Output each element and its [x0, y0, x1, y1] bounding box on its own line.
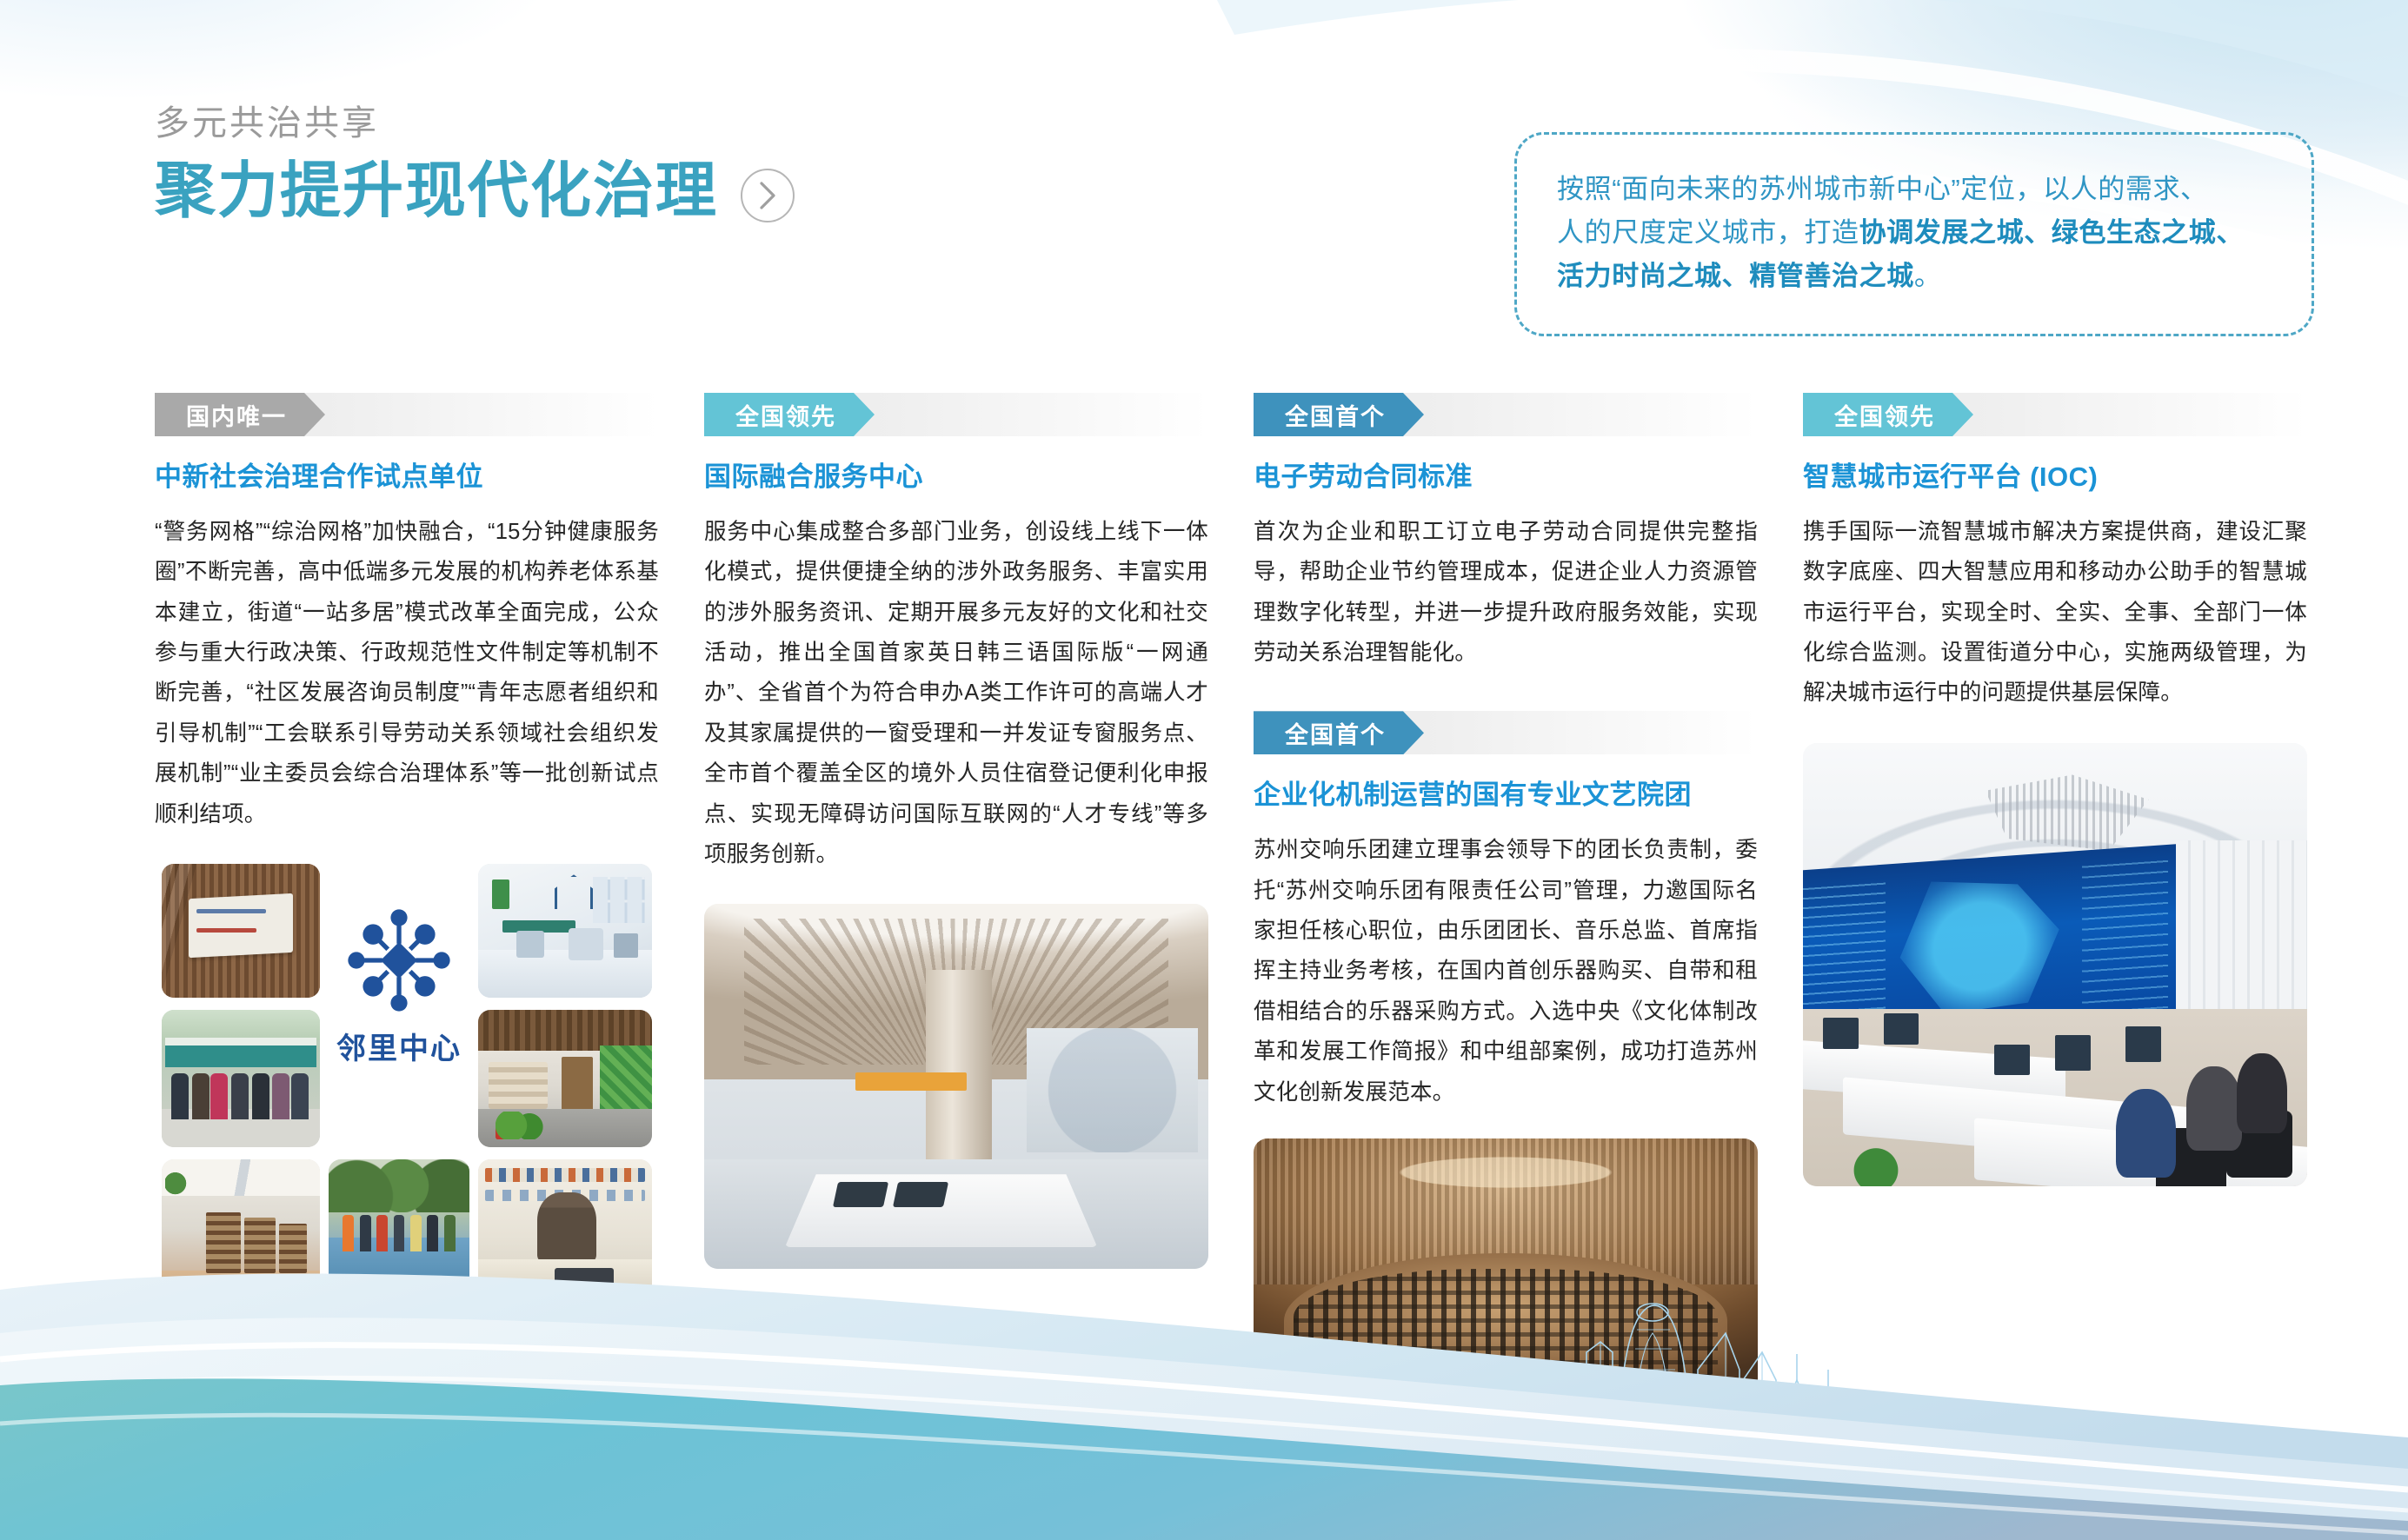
column-heading: 智慧城市运行平台 (IOC)	[1803, 461, 2307, 495]
column-body-text: 首次为企业和职工订立电子劳动合同提供完整指导，帮助企业节约管理成本，促进企业人力…	[1254, 512, 1758, 674]
column-labor-and-arts: 全国首个 电子劳动合同标准 首次为企业和职工订立电子劳动合同提供完整指导，帮助企…	[1254, 393, 1758, 1399]
neighborhood-center-label: 邻里中心	[336, 1025, 462, 1067]
badge-container: 全国领先	[704, 393, 1208, 436]
column-heading: 企业化机制运营的国有专业文艺院团	[1254, 779, 1758, 813]
international-service-center-atrium-photo: EXPAT SERVICE SIP	[704, 904, 1208, 1269]
page-title: 聚力提升现代化治理	[155, 158, 718, 224]
content-columns: 国内唯一 中新社会治理合作试点单位 “警务网格”“综治网格”加快融合，“15分钟…	[155, 393, 2267, 1399]
health-clinic-room-photo	[478, 864, 652, 998]
neighborhood-center-diamond-logo	[343, 905, 455, 1016]
status-badge: 全国领先	[704, 393, 875, 436]
column-international-service: 全国领先 国际融合服务中心 服务中心集成整合多部门业务，创设线上线下一体化模式，…	[704, 393, 1208, 1399]
badge-container: 全国首个	[1254, 711, 1758, 754]
infographic-page: 多元共治共享 聚力提升现代化治理 按照“面向未来的苏州城市新中心”定位，以人的需…	[0, 0, 2408, 1540]
callout-line-2-plain: 人的尺度定义城市，打造	[1557, 217, 1859, 248]
column-smart-city-ioc: 全国领先 智慧城市运行平台 (IOC) 携手国际一流智慧城市解决方案提供商，建设…	[1803, 393, 2307, 1399]
column-heading: 电子劳动合同标准	[1254, 461, 1758, 495]
badge-container: 全国领先	[1803, 393, 2307, 436]
badge-container: 全国首个	[1254, 393, 1758, 436]
status-badge: 全国领先	[1803, 393, 1973, 436]
positioning-callout-box: 按照“面向未来的苏州城市新中心”定位，以人的需求、 人的尺度定义城市，打造协调发…	[1514, 132, 2314, 336]
page-header: 多元共治共享 聚力提升现代化治理	[155, 103, 795, 224]
callout-line-2-bold: 协调发展之城、绿色生态之城、	[1859, 217, 2244, 248]
column-heading: 国际融合服务中心	[704, 461, 1208, 495]
column-body-text: 服务中心集成整合多部门业务，创设线上线下一体化模式，提供便捷全纳的涉外政务服务、…	[704, 512, 1208, 875]
callout-line-3-bold: 活力时尚之城、精管善治之城	[1557, 261, 1914, 291]
grocery-store-interior-photo	[478, 1010, 652, 1147]
photo-collage: 邻里中心	[155, 864, 659, 1264]
callout-text: 按照“面向未来的苏州城市新中心”定位，以人的需求、 人的尺度定义城市，打造协调发…	[1557, 168, 2272, 299]
column-body-text: 苏州交响乐团建立理事会领导下的团长负责制，委托“苏州交响乐团有限责任公司”管理，…	[1254, 830, 1758, 1112]
status-badge: 全国首个	[1254, 711, 1424, 754]
status-badge: 国内唯一	[155, 393, 325, 436]
column-body-text: “警务网格”“综治网格”加快融合，“15分钟健康服务圈”不断完善，高中低端多元发…	[155, 512, 659, 834]
column-body-text: 携手国际一流智慧城市解决方案提供商，建设汇聚数字底座、四大智慧应用和移动办公助手…	[1803, 512, 2307, 714]
callout-line-1: 按照“面向未来的苏州城市新中心”定位，以人的需求、	[1557, 174, 2208, 204]
neighborhood-center-logo: 邻里中心	[325, 873, 473, 1099]
badge-container: 国内唯一	[155, 393, 659, 436]
callout-line-3-period: 。	[1914, 261, 1942, 291]
status-badge: 全国首个	[1254, 393, 1424, 436]
page-title-row: 聚力提升现代化治理	[155, 158, 795, 224]
signage-wall-photo	[162, 864, 320, 998]
community-market-kiosk-photo	[162, 1010, 320, 1147]
bottom-wave-decoration	[0, 1253, 2408, 1540]
column-heading: 中新社会治理合作试点单位	[155, 461, 659, 495]
column-community-governance: 国内唯一 中新社会治理合作试点单位 “警务网格”“综治网格”加快融合，“15分钟…	[155, 393, 659, 1399]
smart-city-operations-center-photo	[1803, 743, 2307, 1186]
chevron-right-circle-icon[interactable]	[741, 169, 795, 222]
page-kicker: 多元共治共享	[155, 103, 795, 144]
